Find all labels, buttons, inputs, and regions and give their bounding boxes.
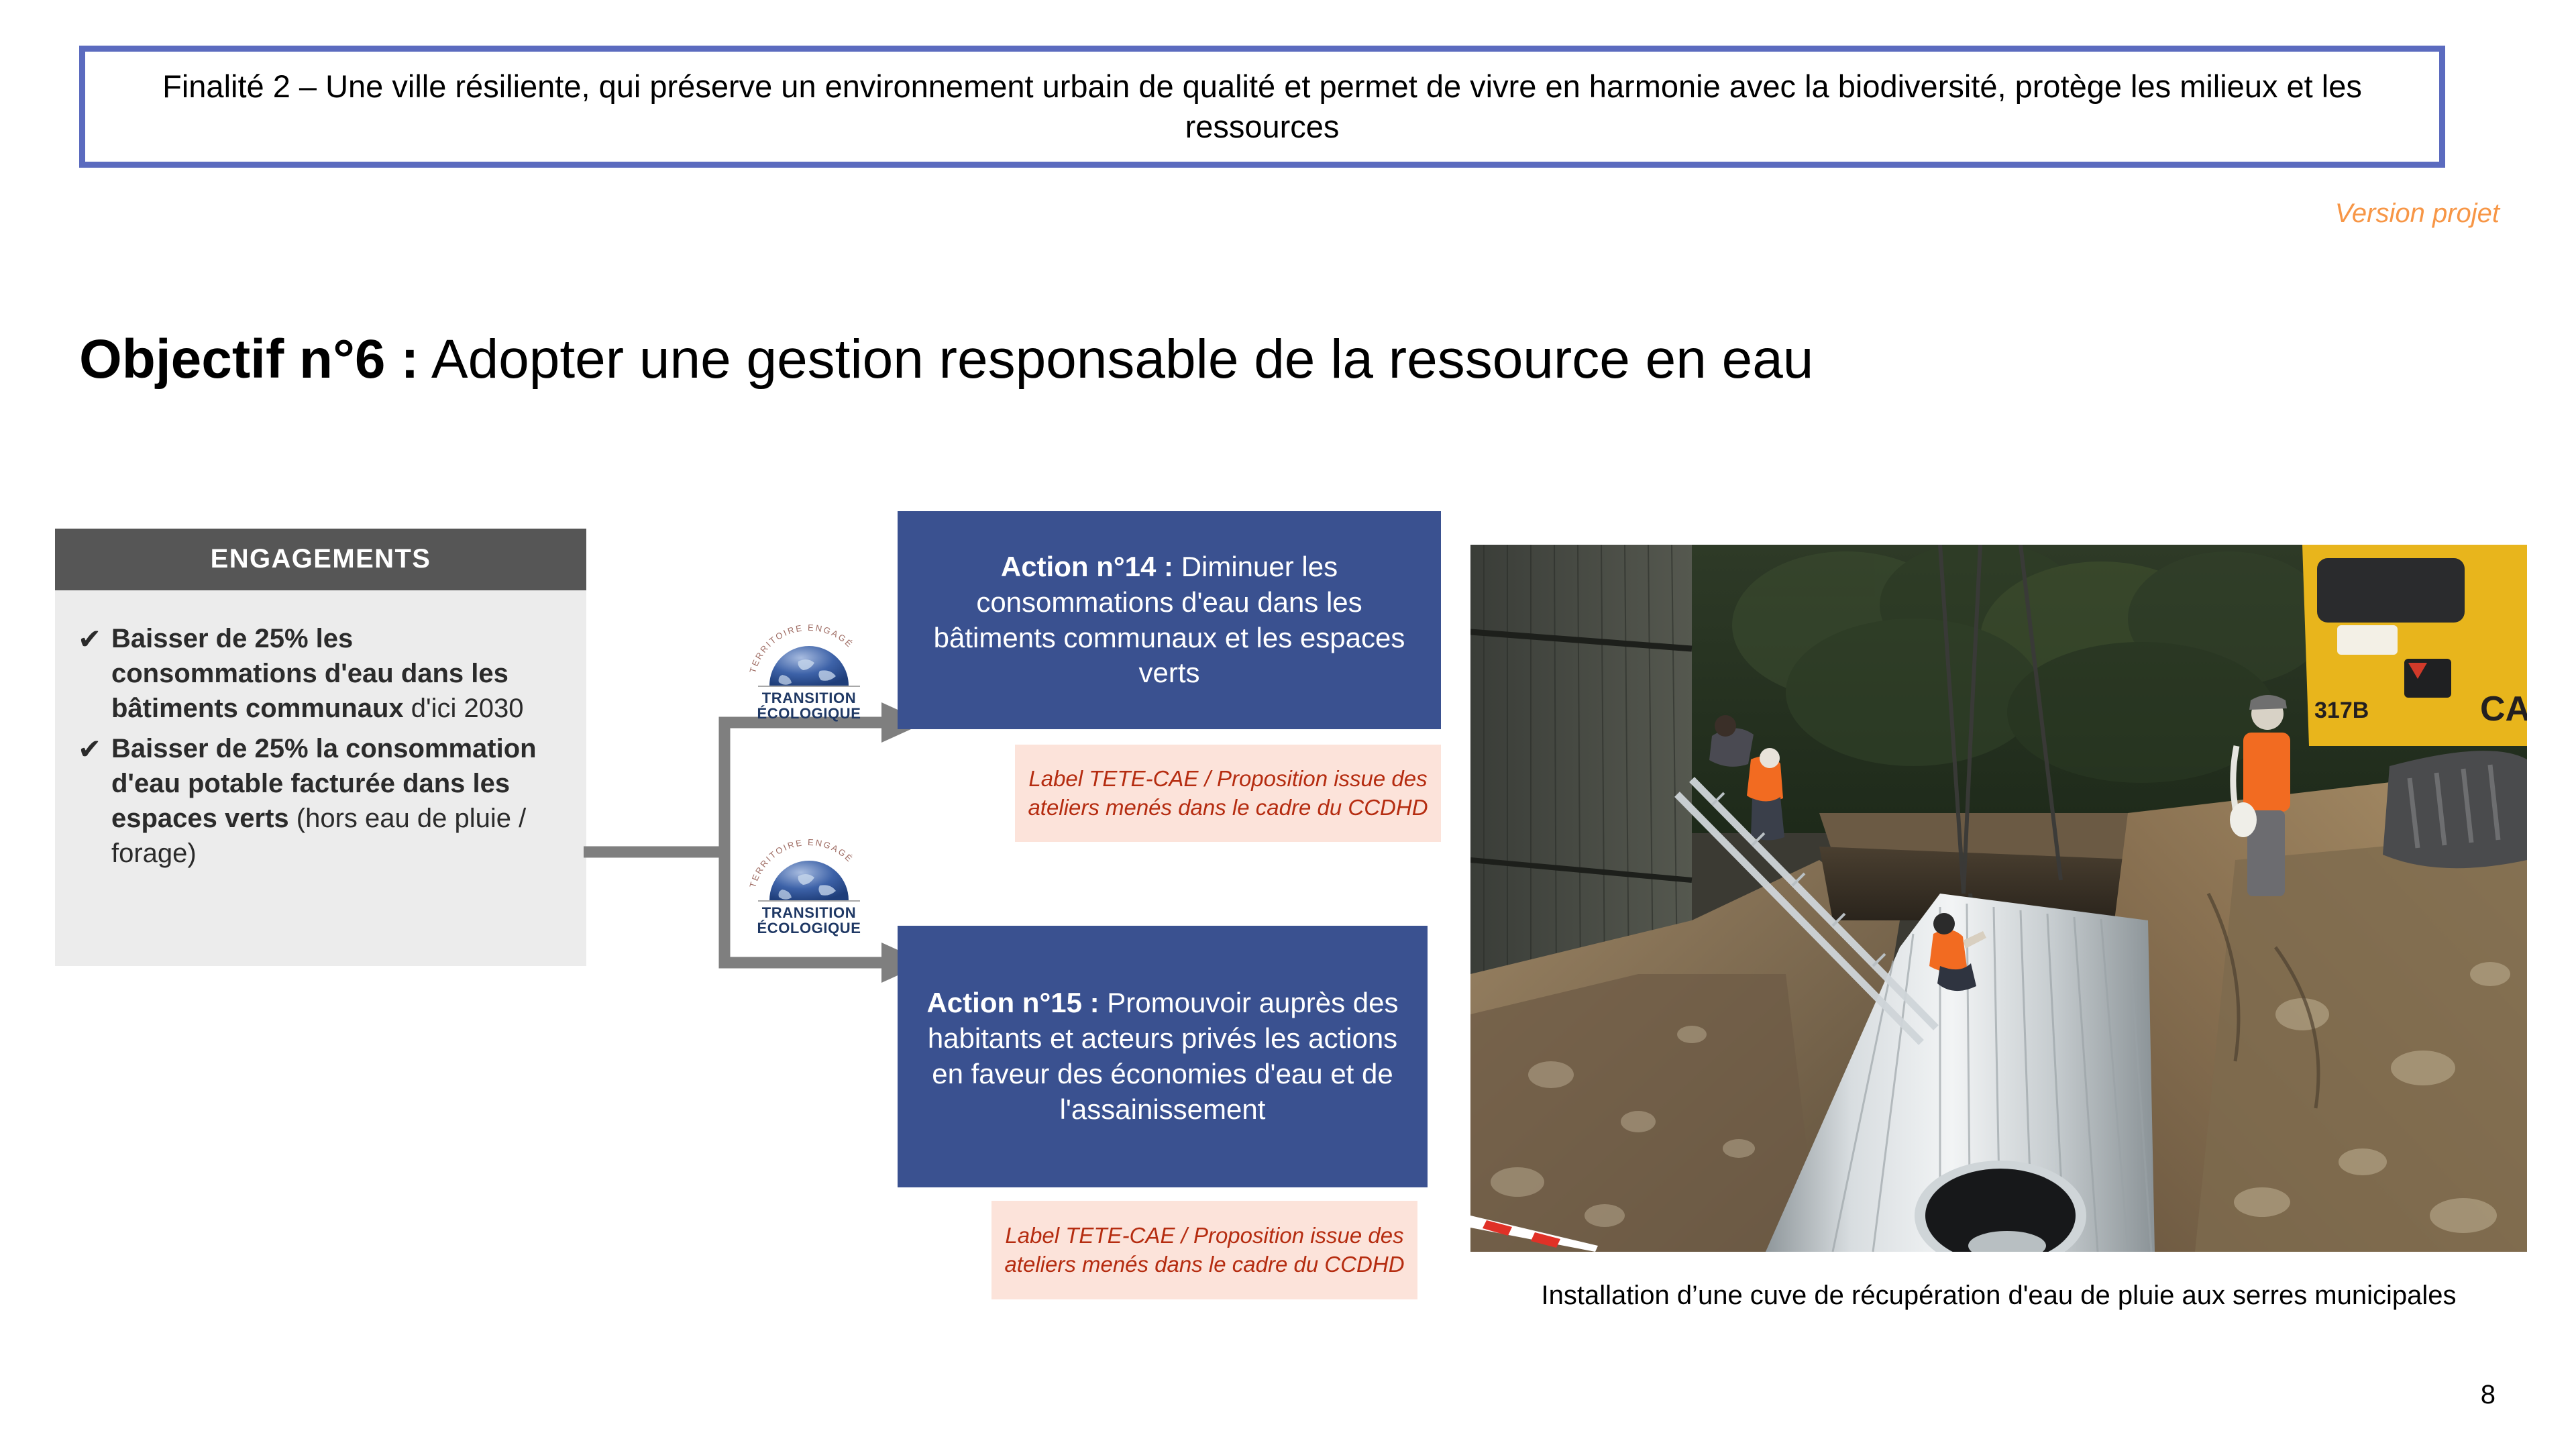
engagements-panel: ENGAGEMENTS ✔ Baisser de 25% les consomm… bbox=[55, 529, 586, 966]
action-card-15-label: Label TETE-CAE / Proposition issue des a… bbox=[991, 1201, 1417, 1299]
photo-caption: Installation d’une cuve de récupération … bbox=[1470, 1278, 2527, 1313]
engagements-body: ✔ Baisser de 25% les consommations d'eau… bbox=[55, 590, 586, 966]
slide-root: Finalité 2 – Une ville résiliente, qui p… bbox=[0, 0, 2576, 1449]
page-title: Objectif n°6 : Adopter une gestion respo… bbox=[79, 329, 2467, 390]
svg-text:TRANSITION: TRANSITION bbox=[762, 904, 856, 921]
transition-ecologique-logo-icon: TERRITOIRE ENGAGÉ TRANSITION ÉCOLOGIQUE bbox=[741, 839, 877, 938]
check-icon: ✔ bbox=[70, 621, 111, 658]
action-card-15-text: Action n°15 : Promouvoir auprès des habi… bbox=[898, 977, 1428, 1136]
version-projet-label: Version projet bbox=[2335, 199, 2500, 229]
finalite-banner: Finalité 2 – Une ville résiliente, qui p… bbox=[79, 46, 2445, 168]
transition-ecologique-logo-icon: TERRITOIRE ENGAGÉ TRANSITION ÉCOLOGIQUE bbox=[741, 624, 877, 723]
engagement-text: Baisser de 25% la consommation d'eau pot… bbox=[111, 731, 566, 871]
engagement-text: Baisser de 25% les consommations d'eau d… bbox=[111, 621, 566, 726]
svg-text:TRANSITION: TRANSITION bbox=[762, 690, 856, 706]
action-card-14-label: Label TETE-CAE / Proposition issue des a… bbox=[1015, 745, 1441, 842]
action-card-15-title: Action n°15 : bbox=[926, 987, 1099, 1018]
list-item: ✔ Baisser de 25% la consommation d'eau p… bbox=[70, 731, 566, 871]
finalite-text: Finalité 2 – Une ville résiliente, qui p… bbox=[85, 66, 2439, 147]
page-number: 8 bbox=[2481, 1380, 2495, 1410]
engagements-header: ENGAGEMENTS bbox=[55, 529, 586, 590]
page-title-rest: Adopter une gestion responsable de la re… bbox=[419, 329, 1814, 390]
construction-photo-illustration: CAT 317B bbox=[1470, 545, 2527, 1252]
action-card-14-title: Action n°14 : bbox=[1001, 551, 1173, 582]
action-card-15[interactable]: Action n°15 : Promouvoir auprès des habi… bbox=[898, 926, 1428, 1187]
list-item: ✔ Baisser de 25% les consommations d'eau… bbox=[70, 621, 566, 726]
svg-text:CAT: CAT bbox=[2480, 690, 2527, 729]
svg-text:317B: 317B bbox=[2314, 698, 2369, 723]
svg-text:ÉCOLOGIQUE: ÉCOLOGIQUE bbox=[757, 705, 861, 722]
construction-photo: CAT 317B bbox=[1470, 545, 2527, 1252]
action-card-14-text: Action n°14 : Diminuer les consommations… bbox=[898, 541, 1441, 700]
page-title-prefix: Objectif n°6 : bbox=[79, 329, 419, 390]
check-icon: ✔ bbox=[70, 731, 111, 768]
engagement-plain: d'ici 2030 bbox=[404, 694, 524, 723]
action-card-14[interactable]: Action n°14 : Diminuer les consommations… bbox=[898, 511, 1441, 729]
svg-text:ÉCOLOGIQUE: ÉCOLOGIQUE bbox=[757, 920, 861, 936]
